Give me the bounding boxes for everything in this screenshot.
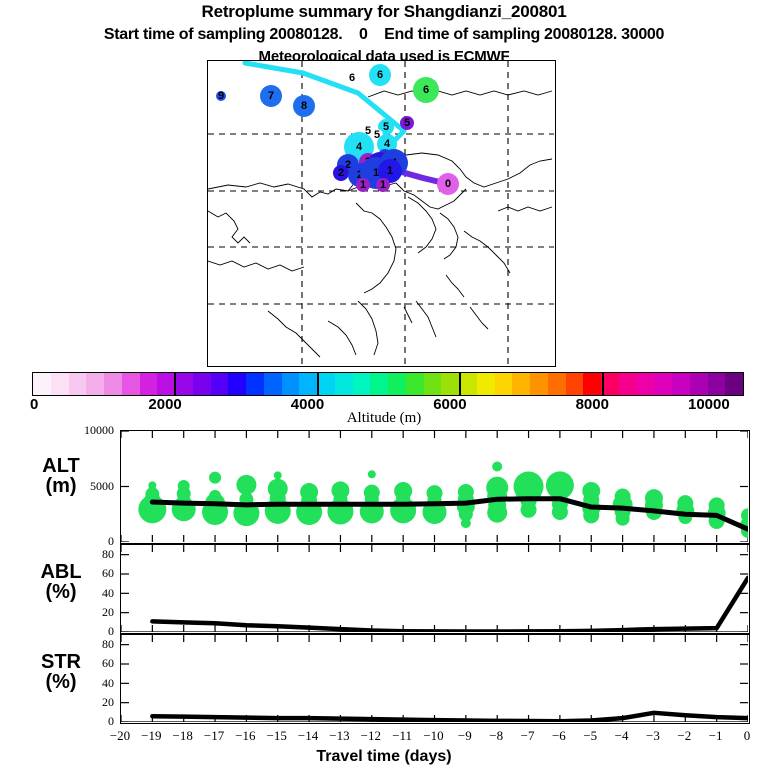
str-panel[interactable]: [120, 634, 750, 724]
alt-particle-dot: [492, 462, 502, 472]
colorbar-swatch: [459, 373, 477, 395]
colorbar-swatch: [69, 373, 87, 395]
colorbar-swatch: [441, 373, 459, 395]
colorbar-swatch: [477, 373, 495, 395]
colorbar-swatch: [264, 373, 282, 395]
alt-particle-dot: [236, 475, 256, 495]
x-tick-label: −6: [542, 728, 576, 744]
y-tick-label: 10000: [62, 423, 114, 438]
abl-fraction-line: [152, 578, 748, 632]
alt-particle-dot: [552, 504, 568, 520]
map-marker[interactable]: 5: [400, 116, 414, 130]
colorbar-swatch: [583, 373, 601, 395]
abl-panel[interactable]: [120, 544, 750, 634]
x-tick-label: −8: [479, 728, 513, 744]
map-marker[interactable]: 6: [346, 72, 358, 84]
x-tick-label: −9: [448, 728, 482, 744]
map-coastlines: [208, 61, 554, 365]
alt-particle-dot: [521, 502, 537, 518]
colorbar-swatch: [548, 373, 566, 395]
y-tick-label: 20: [62, 695, 114, 710]
colorbar-swatch: [122, 373, 140, 395]
y-tick-label: 5000: [62, 479, 114, 494]
map-marker[interactable]: 8: [293, 95, 315, 117]
colorbar-swatch: [246, 373, 264, 395]
colorbar-swatch: [299, 373, 317, 395]
sampling-time-subtitle: Start time of sampling 20080128. 0 End t…: [0, 26, 768, 44]
alt-panel[interactable]: [120, 430, 750, 544]
map-marker[interactable]: 9: [216, 91, 226, 101]
y-tick-label: 40: [62, 586, 114, 601]
colorbar-swatch: [51, 373, 69, 395]
alt-particle-dot: [209, 472, 221, 484]
colorbar-swatch: [495, 373, 513, 395]
alt-particle-dot: [461, 518, 471, 528]
y-tick-label: 60: [62, 656, 114, 671]
str-plot-area: [121, 635, 748, 722]
x-tick-label: −14: [291, 728, 325, 744]
x-tick-label: 0: [730, 728, 764, 744]
x-tick-label: −12: [354, 728, 388, 744]
y-tick-label: 80: [62, 637, 114, 652]
colorbar-swatch: [725, 373, 743, 395]
colorbar-swatch: [282, 373, 300, 395]
colorbar-swatch: [690, 373, 708, 395]
colorbar-swatch: [601, 373, 619, 395]
map-marker[interactable]: 0: [437, 173, 459, 195]
x-tick-label: −5: [573, 728, 607, 744]
colorbar-swatch: [157, 373, 175, 395]
colorbar-swatch: [672, 373, 690, 395]
colorbar-swatch: [637, 373, 655, 395]
x-tick-label: −13: [322, 728, 356, 744]
alt-label-line: ALT: [8, 456, 114, 476]
x-axis-title: Travel time (days): [0, 748, 768, 766]
abl-plot-area: [121, 545, 748, 632]
alt-particle-dot: [583, 507, 599, 523]
x-tick-label: −18: [166, 728, 200, 744]
x-tick-label: −11: [385, 728, 419, 744]
x-tick-label: −4: [605, 728, 639, 744]
alt-particle-dot: [390, 497, 416, 523]
colorbar-separator: [174, 372, 176, 396]
x-tick-label: −19: [134, 728, 168, 744]
colorbar-swatch: [211, 373, 229, 395]
colorbar-swatch: [424, 373, 442, 395]
map-marker[interactable]: 1: [376, 178, 390, 192]
alt-particle-dot: [138, 495, 166, 523]
map-marker[interactable]: 1: [356, 178, 370, 192]
alt-particle-dot: [368, 470, 376, 478]
colorbar-swatch: [353, 373, 371, 395]
x-tick-label: −15: [260, 728, 294, 744]
map-marker[interactable]: 6: [413, 77, 439, 103]
colorbar-swatch: [530, 373, 548, 395]
x-tick-label: −7: [511, 728, 545, 744]
colorbar-swatch: [388, 373, 406, 395]
colorbar-swatch: [708, 373, 726, 395]
x-tick-label: −1: [699, 728, 733, 744]
alt-particle-dot: [273, 513, 283, 523]
map-marker[interactable]: 2: [333, 165, 349, 181]
colorbar-swatch: [406, 373, 424, 395]
colorbar-swatch: [175, 373, 193, 395]
colorbar-axis-label: Altitude (m): [0, 410, 768, 427]
colorbar-swatch: [512, 373, 530, 395]
colorbar-separator: [459, 372, 461, 396]
colorbar-swatch: [33, 373, 51, 395]
colorbar-swatch: [370, 373, 388, 395]
x-tick-label: −20: [103, 728, 137, 744]
alt-plot-area: [121, 431, 748, 542]
y-tick-label: 20: [62, 605, 114, 620]
colorbar-swatch: [654, 373, 672, 395]
colorbar-swatch: [140, 373, 158, 395]
y-tick-label: 40: [62, 676, 114, 691]
map-marker[interactable]: 6: [369, 64, 391, 86]
colorbar-swatch: [104, 373, 122, 395]
colorbar-swatch: [619, 373, 637, 395]
alt-particle-dot: [616, 512, 630, 526]
y-tick-label: 60: [62, 566, 114, 581]
colorbar-swatch: [228, 373, 246, 395]
altitude-colorbar[interactable]: [32, 372, 744, 396]
page-title: Retroplume summary for Shangdianzi_20080…: [0, 2, 768, 22]
x-tick-label: −16: [228, 728, 262, 744]
colorbar-swatch: [317, 373, 335, 395]
alt-particle-dot: [487, 503, 507, 523]
colorbar-swatch: [86, 373, 104, 395]
colorbar-swatch: [193, 373, 211, 395]
y-tick-label: 80: [62, 547, 114, 562]
colorbar-swatch: [566, 373, 584, 395]
x-tick-label: −2: [667, 728, 701, 744]
colorbar-separator: [602, 372, 604, 396]
map-marker[interactable]: 7: [260, 85, 282, 107]
str-fraction-line: [152, 713, 748, 721]
x-tick-label: −3: [636, 728, 670, 744]
x-tick-label: −17: [197, 728, 231, 744]
colorbar-swatch: [335, 373, 353, 395]
alt-particle-dot: [274, 471, 282, 479]
x-tick-label: −10: [417, 728, 451, 744]
retroplume-trajectory-map[interactable]: 97866655554444334422211110: [207, 60, 556, 367]
colorbar-separator: [317, 372, 319, 396]
